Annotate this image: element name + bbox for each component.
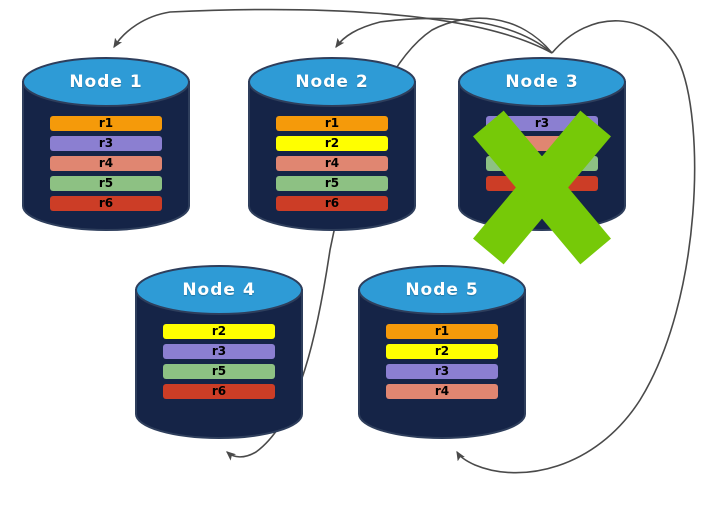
node-5-title: Node 5: [358, 280, 526, 300]
replica-label: r1: [50, 116, 162, 131]
replica-row[interactable]: r4: [50, 156, 162, 171]
replica-label: r5: [163, 364, 275, 379]
replica-label: r6: [50, 196, 162, 211]
node-4-title: Node 4: [135, 280, 303, 300]
replica-row[interactable]: [486, 136, 598, 151]
node-3-replica-list: r3: [458, 116, 626, 196]
node-1-title: Node 1: [22, 72, 190, 92]
replica-label: r5: [50, 176, 162, 191]
replica-label: r2: [276, 136, 388, 151]
node-4-replica-list: r2r3r5r6: [135, 324, 303, 404]
replica-row[interactable]: r3: [163, 344, 275, 359]
replica-label: r3: [386, 364, 498, 379]
replica-row[interactable]: r2: [276, 136, 388, 151]
node-2-title: Node 2: [248, 72, 416, 92]
replica-row[interactable]: r1: [386, 324, 498, 339]
replica-row[interactable]: r1: [50, 116, 162, 131]
replica-row[interactable]: [486, 156, 598, 171]
replica-label: r1: [276, 116, 388, 131]
replica-row[interactable]: r4: [386, 384, 498, 399]
arrow-node3-to-node2: [336, 19, 552, 53]
replica-label: r6: [276, 196, 388, 211]
arrow-node3-to-node1: [114, 10, 552, 53]
replica-label: r1: [386, 324, 498, 339]
node-3-cylinder[interactable]: Node 3r3: [458, 58, 626, 230]
replica-row[interactable]: r3: [486, 116, 598, 131]
replica-row[interactable]: r2: [386, 344, 498, 359]
replica-label: [486, 136, 598, 151]
node-5-replica-list: r1r2r3r4: [358, 324, 526, 404]
replica-row[interactable]: r3: [386, 364, 498, 379]
replica-label: r3: [163, 344, 275, 359]
replica-label: r4: [386, 384, 498, 399]
replica-row[interactable]: r4: [276, 156, 388, 171]
replica-row[interactable]: [486, 176, 598, 191]
replica-label: r6: [163, 384, 275, 399]
replica-label: r4: [50, 156, 162, 171]
node-2-cylinder[interactable]: Node 2r1r2r4r5r6: [248, 58, 416, 230]
replica-label: r3: [50, 136, 162, 151]
replica-label: r5: [276, 176, 388, 191]
replica-row[interactable]: r1: [276, 116, 388, 131]
replica-row[interactable]: r5: [163, 364, 275, 379]
replica-row[interactable]: r6: [276, 196, 388, 211]
node-1-cylinder[interactable]: Node 1r1r3r4r5r6: [22, 58, 190, 230]
diagram-canvas: Node 1r1r3r4r5r6Node 2r1r2r4r5r6Node 3r3…: [0, 0, 708, 508]
replica-label: [486, 176, 598, 191]
node-2-replica-list: r1r2r4r5r6: [248, 116, 416, 216]
replica-label: r2: [386, 344, 498, 359]
replica-label: [486, 156, 598, 171]
node-3-title: Node 3: [458, 72, 626, 92]
replica-row[interactable]: r5: [276, 176, 388, 191]
replica-row[interactable]: r5: [50, 176, 162, 191]
replica-row[interactable]: r6: [50, 196, 162, 211]
replica-label: r3: [486, 116, 598, 131]
replica-row[interactable]: r3: [50, 136, 162, 151]
replica-row[interactable]: r2: [163, 324, 275, 339]
replica-label: r4: [276, 156, 388, 171]
node-4-cylinder[interactable]: Node 4r2r3r5r6: [135, 266, 303, 438]
replica-row[interactable]: r6: [163, 384, 275, 399]
node-5-cylinder[interactable]: Node 5r1r2r3r4: [358, 266, 526, 438]
replica-label: r2: [163, 324, 275, 339]
node-1-replica-list: r1r3r4r5r6: [22, 116, 190, 216]
